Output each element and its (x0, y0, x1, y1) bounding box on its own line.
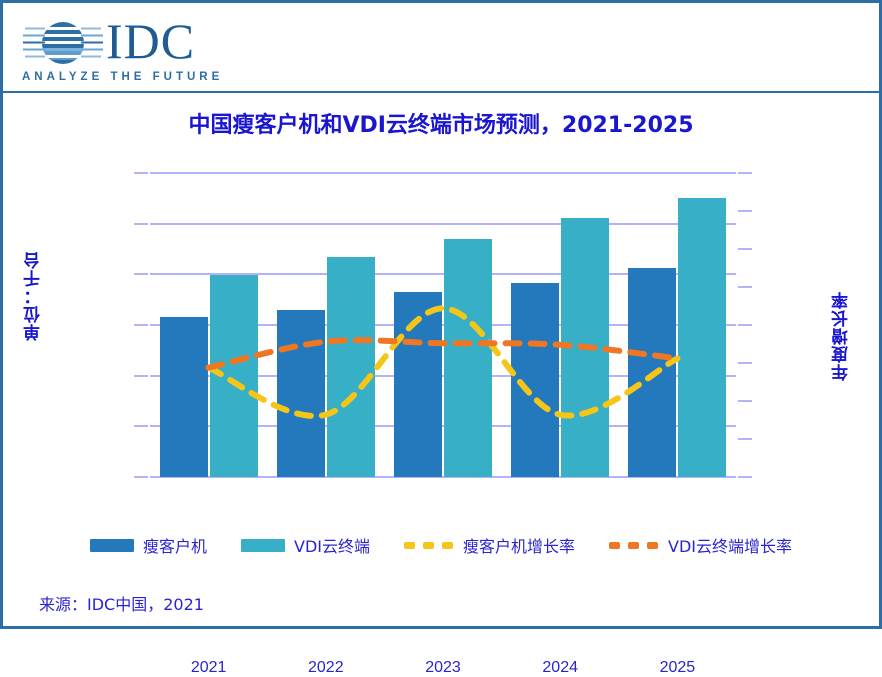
line-VDI云终端增长率 (209, 340, 678, 367)
y-tick-right (738, 172, 752, 174)
y-axis-title-left: 单位：千台 (21, 251, 46, 341)
legend-dashed-line-icon (404, 542, 454, 549)
y-tick-left (134, 375, 148, 377)
header-divider (3, 91, 879, 93)
y-tick-left (134, 476, 148, 478)
y-tick-right (738, 400, 752, 402)
y-minor-tick-right (738, 362, 752, 364)
legend-label: VDI云终端 (294, 533, 370, 557)
x-tick-label-2025: 2025 (617, 659, 737, 677)
y-tick-left (134, 324, 148, 326)
chart-title: 中国瘦客户机和VDI云终端市场预测，2021-2025 (3, 107, 879, 139)
source-note: 来源：IDC中国，2021 (39, 591, 204, 615)
legend-item-2[interactable]: 瘦客户机增长率 (404, 533, 575, 557)
legend-dashed-line-icon (609, 542, 659, 549)
idc-logo: IDC ANALYZE THE FUTURE (18, 15, 228, 85)
chart-frame: IDC ANALYZE THE FUTURE 中国瘦客户机和VDI云终端市场预测… (0, 0, 882, 629)
plot-area: 05001,0001,5002,0002,5003,000 0%5%10%15%… (150, 173, 736, 477)
y-tick-right (738, 324, 752, 326)
y-minor-tick-right (738, 286, 752, 288)
legend-item-1[interactable]: VDI云终端 (241, 533, 370, 557)
y-tick-left (134, 425, 148, 427)
x-tick-label-2023: 2023 (383, 659, 503, 677)
x-tick-label-2022: 2022 (266, 659, 386, 677)
y-tick-right (738, 248, 752, 250)
idc-globe-logo-icon (23, 17, 103, 69)
y-tick-left (134, 223, 148, 225)
growth-rate-lines (150, 173, 736, 477)
legend-label: 瘦客户机 (143, 533, 207, 557)
legend-swatch-icon (241, 539, 285, 552)
y-tick-left (134, 172, 148, 174)
idc-wordmark: IDC (106, 13, 195, 69)
x-tick-label-2021: 2021 (149, 659, 269, 677)
legend-item-3[interactable]: VDI云终端增长率 (609, 533, 792, 557)
legend-label: VDI云终端增长率 (668, 533, 792, 557)
legend-swatch-icon (90, 539, 134, 552)
x-tick-label-2024: 2024 (500, 659, 620, 677)
y-tick-right (738, 476, 752, 478)
chart-legend: 瘦客户机VDI云终端瘦客户机增长率VDI云终端增长率 (3, 533, 879, 557)
line-瘦客户机增长率 (209, 308, 678, 416)
y-tick-left (134, 273, 148, 275)
legend-item-0[interactable]: 瘦客户机 (90, 533, 207, 557)
y-minor-tick-right (738, 210, 752, 212)
y-axis-title-right: 年度增长率 (829, 291, 854, 381)
legend-label: 瘦客户机增长率 (463, 533, 575, 557)
idc-tagline: ANALYZE THE FUTURE (22, 71, 223, 83)
y-minor-tick-right (738, 438, 752, 440)
